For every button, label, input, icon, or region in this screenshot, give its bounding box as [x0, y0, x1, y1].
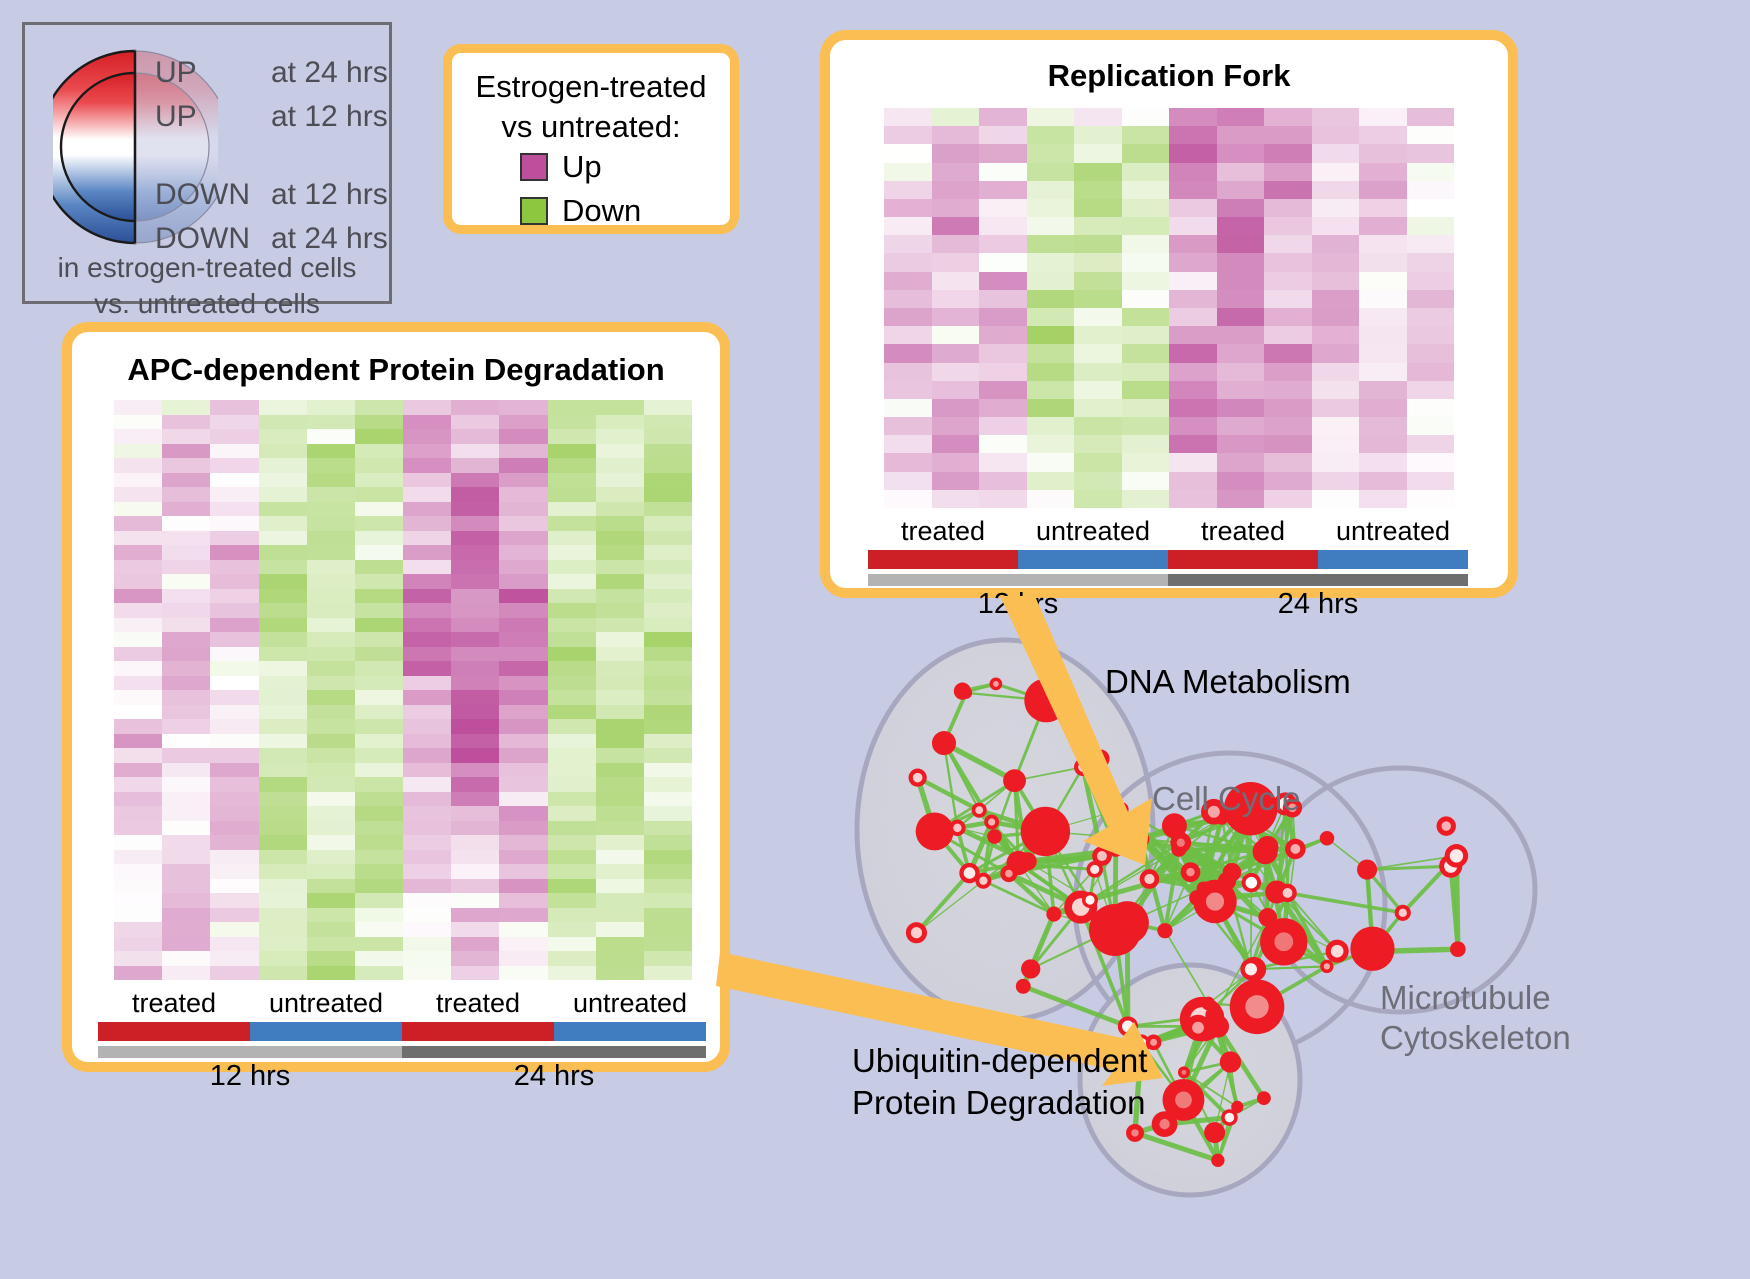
ubiquitin-label-line-2: Protein Degradation	[852, 1082, 1147, 1124]
microtubule-label-line-1: Microtubule	[1380, 978, 1571, 1018]
arrow-replication-to-dna	[1000, 596, 1152, 865]
cluster-label-microtubule-cytoskeleton: Microtubule Cytoskeleton	[1380, 978, 1571, 1058]
cluster-label-dna-metabolism: DNA Metabolism	[1105, 663, 1351, 701]
cluster-label-ubiquitin-degradation: Ubiquitin-dependent Protein Degradation	[852, 1040, 1147, 1124]
ubiquitin-label-line-1: Ubiquitin-dependent	[852, 1040, 1147, 1082]
cluster-label-cell-cycle: Cell Cycle	[1152, 780, 1301, 818]
microtubule-label-line-2: Cytoskeleton	[1380, 1018, 1571, 1058]
figure-canvas: UP at 24 hrs UP at 12 hrs DOWN at 12 hrs…	[0, 0, 1750, 1279]
